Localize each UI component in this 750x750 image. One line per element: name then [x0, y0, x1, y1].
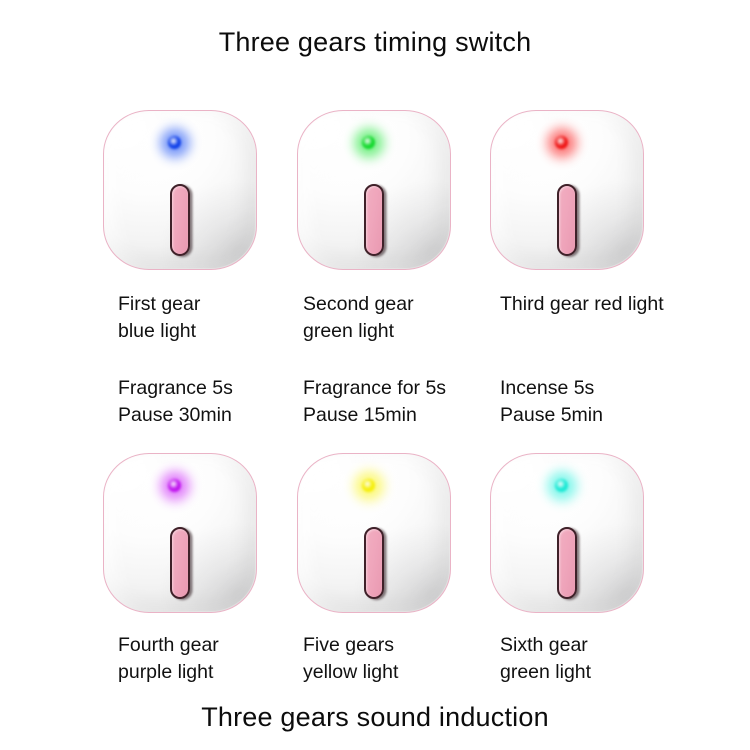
device-sixth-gear: [490, 453, 644, 613]
fragrance-slot: [364, 527, 384, 599]
led-blue-icon: [168, 136, 181, 149]
fragrance-slot: [170, 184, 190, 256]
led-core: [168, 136, 181, 149]
product-infographic: Three gears timing switch First gear blu…: [0, 0, 750, 750]
fragrance-slot: [557, 527, 577, 599]
led-cyan-icon: [555, 479, 568, 492]
led-purple-icon: [168, 479, 181, 492]
timer-third-gear: Incense 5s Pause 5min: [500, 375, 603, 429]
caption-five-gears: Five gears yellow light: [303, 632, 398, 686]
caption-fourth-gear: Fourth gear purple light: [118, 632, 219, 686]
fragrance-slot: [364, 184, 384, 256]
caption-first-gear: First gear blue light: [118, 291, 200, 345]
led-green-icon: [362, 136, 375, 149]
fragrance-slot: [170, 527, 190, 599]
caption-third-gear: Third gear red light: [500, 291, 664, 318]
timer-first-gear: Fragrance 5s Pause 30min: [118, 375, 233, 429]
caption-second-gear: Second gear green light: [303, 291, 414, 345]
led-core: [168, 479, 181, 492]
led-core: [362, 479, 375, 492]
timer-second-gear: Fragrance for 5s Pause 15min: [303, 375, 446, 429]
caption-sixth-gear: Sixth gear green light: [500, 632, 591, 686]
device-five-gears: [297, 453, 451, 613]
device-second-gear: [297, 110, 451, 270]
top-heading: Three gears timing switch: [0, 27, 750, 58]
led-red-icon: [555, 136, 568, 149]
led-core: [555, 479, 568, 492]
led-yellow-icon: [362, 479, 375, 492]
led-core: [362, 136, 375, 149]
fragrance-slot: [557, 184, 577, 256]
device-first-gear: [103, 110, 257, 270]
device-third-gear: [490, 110, 644, 270]
device-fourth-gear: [103, 453, 257, 613]
led-core: [555, 136, 568, 149]
bottom-heading: Three gears sound induction: [0, 702, 750, 733]
